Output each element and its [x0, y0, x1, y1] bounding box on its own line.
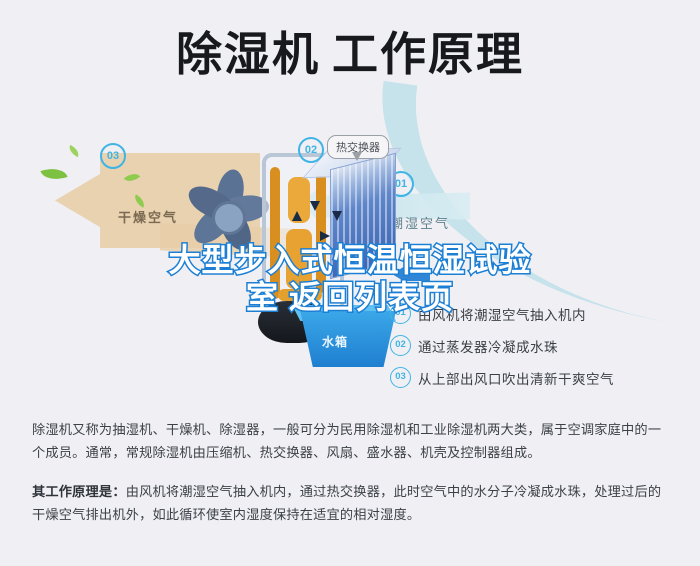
flow-arrow-down-icon	[332, 211, 342, 221]
title-part-1: 除湿机	[176, 28, 320, 80]
page-root: 除湿机工作原理 干燥空气 03 潮湿空气 01	[0, 0, 700, 566]
article-body: 除湿机又称为抽湿机、干燥机、除湿器，一般可分为民用除湿机和工业除湿机两大类，属于…	[32, 418, 672, 542]
coil-pipe	[278, 289, 322, 301]
legend-text-01: 由风机将潮湿空气抽入机内	[418, 304, 586, 324]
flow-arrow-up-icon	[292, 211, 302, 221]
leaf-icon	[40, 164, 67, 185]
air-intake-arrow-icon	[392, 267, 430, 281]
callout-pointer	[352, 152, 362, 161]
title-part-2: 工作原理	[332, 28, 524, 80]
water-tank-label: 水箱	[322, 333, 348, 350]
diagram-badge-02: 02	[298, 137, 324, 163]
legend-text-03: 从上部出风口吹出清新干爽空气	[418, 368, 614, 388]
diagram-badge-03: 03	[100, 143, 126, 169]
dry-air-label: 干燥空气	[118, 207, 178, 226]
dehumidifier-diagram: 干燥空气 03 潮湿空气 01	[0, 115, 700, 405]
legend-item: 03 从上部出风口吹出清新干爽空气	[390, 367, 690, 388]
leaf-icon	[67, 145, 81, 157]
legend-item: 02 通过蒸发器冷凝成水珠	[390, 335, 690, 356]
flow-arrow-right-icon	[320, 231, 330, 241]
page-title: 除湿机工作原理	[0, 26, 700, 82]
paragraph-1: 除湿机又称为抽湿机、干燥机、除湿器，一般可分为民用除湿机和工业除湿机两大类，属于…	[32, 418, 672, 464]
paragraph-2: 其工作原理是：由风机将潮湿空气抽入机内，通过热交换器，此时空气中的水分子冷凝成水…	[32, 480, 672, 526]
coil-pipe	[286, 229, 312, 289]
legend-badge-02: 02	[390, 335, 411, 356]
diagram-legend: 01 由风机将潮湿空气抽入机内 02 通过蒸发器冷凝成水珠 03 从上部出风口吹…	[390, 303, 690, 399]
legend-item: 01 由风机将潮湿空气抽入机内	[390, 303, 690, 324]
paragraph-2-rest: 由风机将潮湿空气抽入机内，通过热交换器，此时空气中的水分子冷凝成水珠，处理过后的…	[32, 484, 661, 522]
humid-air-label: 潮湿空气	[390, 213, 450, 232]
fan-icon	[178, 165, 274, 261]
legend-text-02: 通过蒸发器冷凝成水珠	[418, 336, 558, 356]
coil-pipe	[270, 167, 280, 299]
legend-badge-01: 01	[390, 303, 411, 324]
legend-badge-03: 03	[390, 367, 411, 388]
paragraph-2-lead: 其工作原理是：	[32, 484, 126, 499]
flow-arrow-down-icon	[310, 201, 320, 211]
fan-hub	[212, 201, 246, 235]
